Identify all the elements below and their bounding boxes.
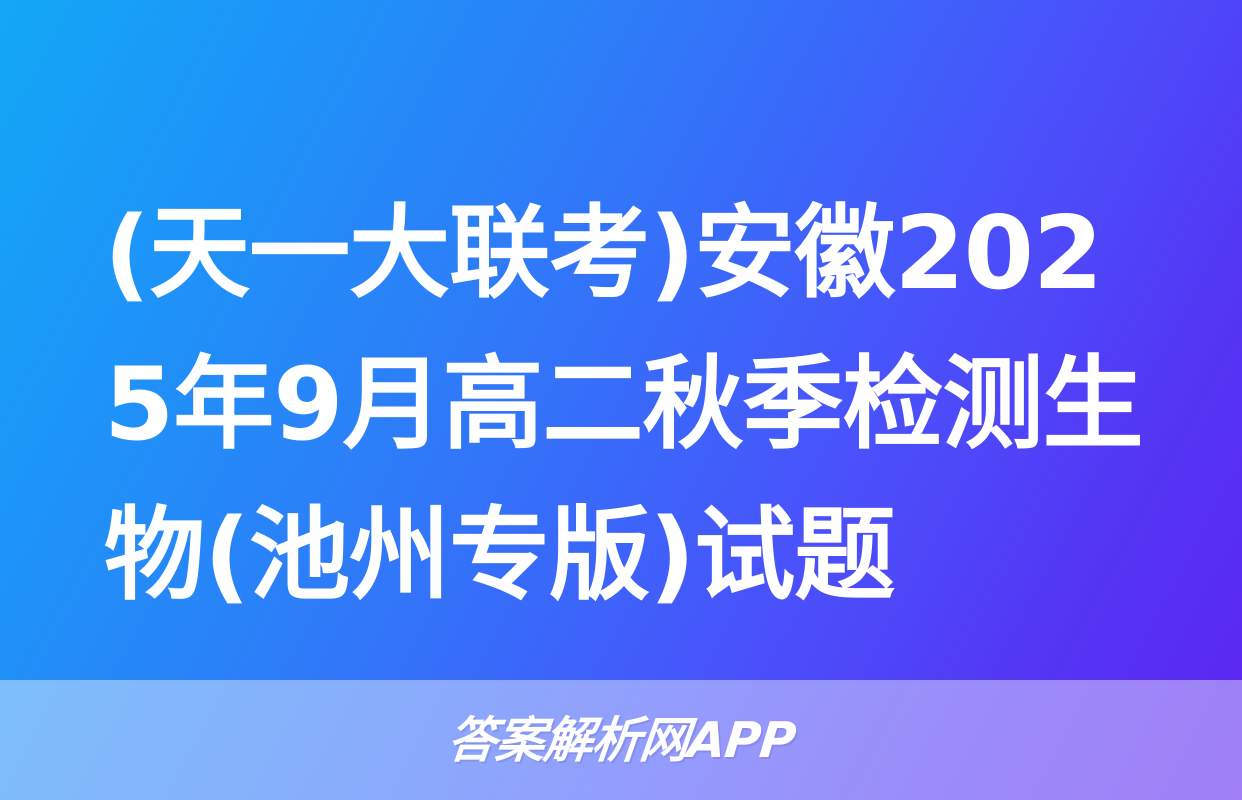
page-title: (天一大联考)安徽2025年9月高二秋季检测生物(池州专版)试题: [104, 178, 1154, 631]
watermark-band: 答案解析网APP: [0, 680, 1242, 800]
title-block: (天一大联考)安徽2025年9月高二秋季检测生物(池州专版)试题: [104, 178, 1154, 631]
watermark-brand-label: 答案解析网APP: [445, 716, 797, 765]
poster-canvas: (天一大联考)安徽2025年9月高二秋季检测生物(池州专版)试题 答案解析网AP…: [0, 0, 1242, 800]
